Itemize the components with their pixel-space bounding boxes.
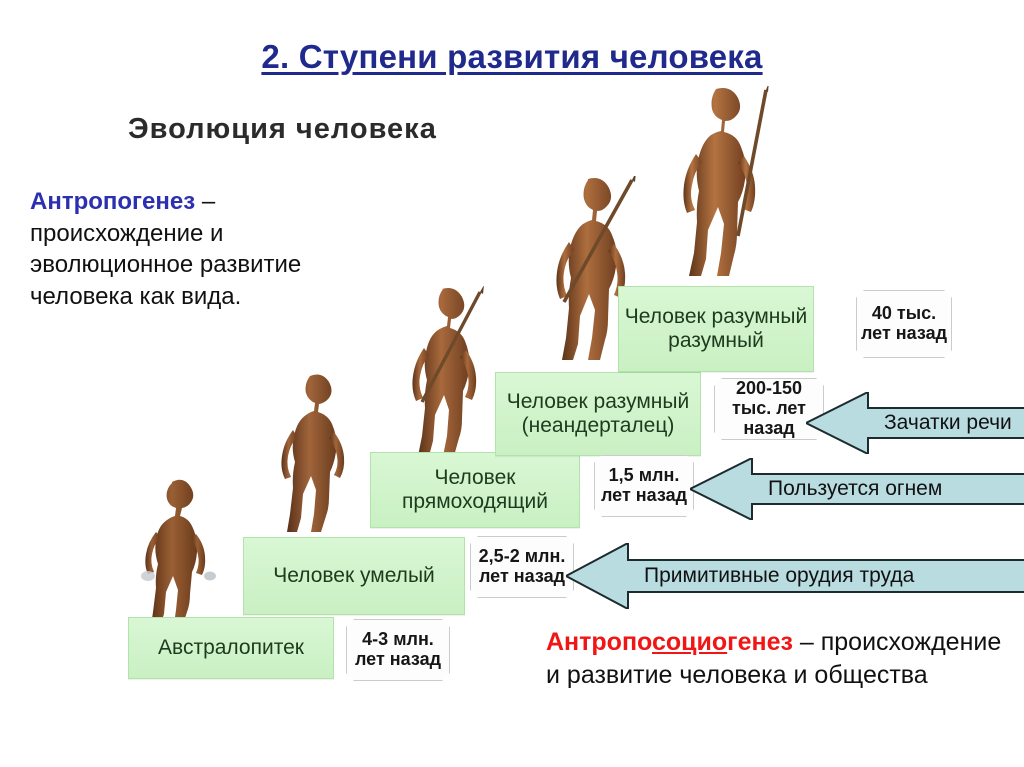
term-part-1: Антропо xyxy=(546,628,652,656)
feature-arrow-fire-label: Пользуется огнем xyxy=(768,477,942,501)
anthropogenesis-term: Антропогенез xyxy=(30,188,195,215)
stage-label-erectus[interactable]: Человек прямоходящий xyxy=(370,452,580,528)
stage-date-erectus[interactable]: 1,5 млн. лет назад xyxy=(594,455,694,517)
anthropogenesis-text: происхождение и эволюционное развитие че… xyxy=(30,220,301,310)
stage-label-habilis[interactable]: Человек умелый xyxy=(243,537,465,615)
feature-arrow-fire[interactable]: Пользуется огнем xyxy=(690,458,1024,520)
stage-label-sapiens[interactable]: Человек разумный разумный xyxy=(618,286,814,372)
slide-canvas: 2. Ступени развития человека Эволюция че… xyxy=(0,0,1024,767)
evolution-caption: Эволюция человека xyxy=(128,113,437,146)
stage-label-australopithecus[interactable]: Австралопитек xyxy=(128,617,334,679)
term-part-underlined: социо xyxy=(652,628,727,656)
stage-date-australopithecus[interactable]: 4-3 млн. лет назад xyxy=(346,619,450,681)
stage-label-neanderthal[interactable]: Человек разумный (неандерталец) xyxy=(495,372,701,456)
page-title: 2. Ступени развития человека xyxy=(0,38,1024,76)
stage-date-habilis[interactable]: 2,5-2 млн. лет назад xyxy=(470,536,574,598)
feature-arrow-tools-label: Примитивные орудия труда xyxy=(644,564,914,588)
anthroposociogenesis-term: Антропосоциогенез xyxy=(546,628,793,656)
figure-sapiens xyxy=(662,86,784,298)
feature-arrow-speech-label: Зачатки речи xyxy=(884,411,1012,435)
figure-australopithecus xyxy=(126,476,230,626)
anthropogenesis-dash: – xyxy=(195,188,215,215)
anthropogenesis-definition: Антропогенез – происхождение и эволюцион… xyxy=(30,186,330,313)
term-part-2: генез xyxy=(727,628,793,656)
anthroposociogenesis-dash: – xyxy=(793,628,821,656)
feature-arrow-tools[interactable]: Примитивные орудия труда xyxy=(566,543,1024,609)
anthroposociogenesis-definition: Антропосоциогенез – происхождение и разв… xyxy=(546,626,1016,691)
figure-erectus xyxy=(392,286,502,472)
stage-date-sapiens[interactable]: 40 тыс. лет назад xyxy=(856,290,952,358)
figure-habilis xyxy=(262,372,366,544)
feature-arrow-speech[interactable]: Зачатки речи xyxy=(806,392,1024,454)
stage-date-neanderthal[interactable]: 200-150 тыс. лет назад xyxy=(714,378,824,440)
